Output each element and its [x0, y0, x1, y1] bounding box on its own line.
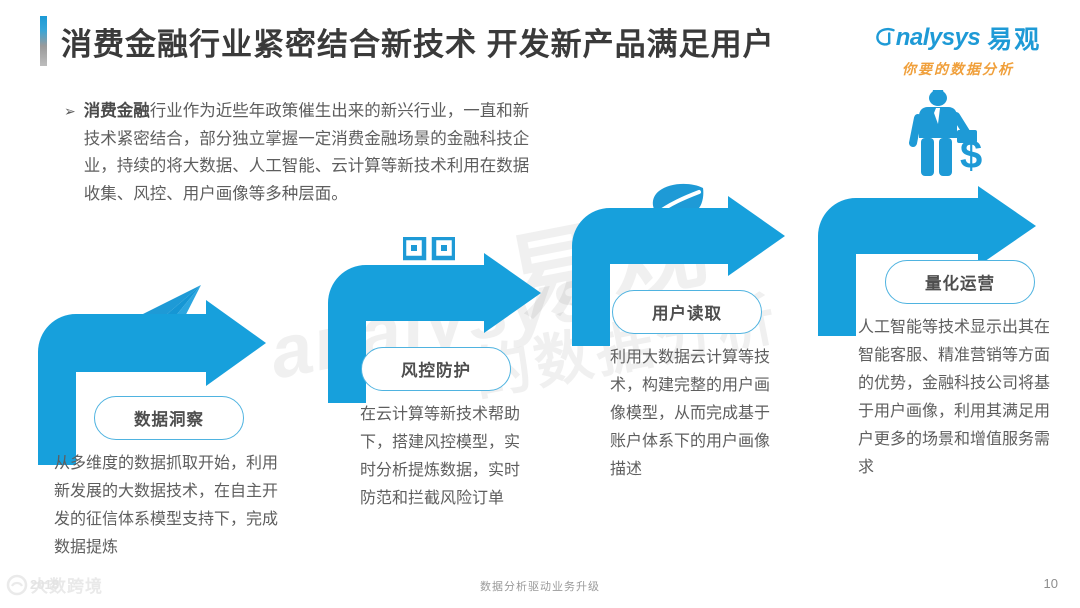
step-label-text-3: 用户读取 — [652, 300, 722, 324]
footer-page-number: 10 — [1044, 576, 1058, 591]
step-label-3[interactable]: 用户读取 — [612, 290, 762, 334]
step-label-2[interactable]: 风控防护 — [361, 347, 511, 391]
logo-wordmark: nalysys — [875, 24, 981, 52]
bullet-arrow-icon: ➢ — [64, 98, 76, 208]
step-description-4: 人工智能等技术显示出其在智能客服、精准营销等方面的优势，金融科技公司将基于用户画… — [858, 314, 1053, 482]
intro-paragraph: ➢ 消费金融行业作为近些年政策催生出来的新兴行业，一直和新技术紧密结合，部分独立… — [64, 98, 534, 208]
footer-corner-watermark: 大数跨境 2018 — [6, 572, 103, 597]
svg-text:$: $ — [960, 133, 982, 177]
step-description-1: 从多维度的数据抓取开始，利用新发展的大数据技术，在自主开发的征信体系模型支持下，… — [54, 450, 286, 562]
logo-wordmark-text: nalysys — [896, 24, 981, 51]
footer-center-text: 数据分析驱动业务升级 — [0, 578, 1080, 594]
intro-text: 消费金融行业作为近些年政策催生出来的新兴行业，一直和新技术紧密结合，部分独立掌握… — [84, 98, 534, 208]
page-title: 消费金融行业紧密结合新技术 开发新产品满足用户 — [40, 16, 775, 66]
step-label-4[interactable]: 量化运营 — [885, 260, 1035, 304]
logo-tagline: 你要的数据分析 — [858, 59, 1058, 79]
step-arrow-1 — [38, 300, 268, 465]
logo-chinese: 易观 — [987, 20, 1041, 56]
businessman-dollar-icon: $ — [904, 88, 982, 185]
logo-swirl-icon — [875, 27, 896, 48]
title-text: 消费金融行业紧密结合新技术 开发新产品满足用户 — [61, 19, 775, 64]
step-label-1[interactable]: 数据洞察 — [94, 396, 244, 440]
intro-body: 行业作为近些年政策催生出来的新兴行业，一直和新技术紧密结合，部分独立掌握一定消费… — [84, 102, 530, 203]
step-description-2: 在云计算等新技术帮助下，搭建风控模型，实时分析提炼数据，实时防范和拦截风险订单 — [360, 401, 530, 513]
title-accent-bar — [40, 16, 47, 66]
step-label-text-4: 量化运营 — [925, 270, 995, 294]
watermark-logo-icon — [6, 574, 28, 596]
intro-lead: 消费金融 — [84, 102, 150, 120]
step-label-text-1: 数据洞察 — [134, 406, 204, 430]
step-description-3: 利用大数据云计算等技术，构建完整的用户画像模型，从而完成基于账户体系下的用户画像… — [610, 344, 780, 484]
watermark-corner-year: 2018 — [30, 577, 59, 592]
brand-logo: nalysys 易观 你要的数据分析 — [858, 20, 1058, 79]
slide-canvas: analysys 易观 的数据分析 消费金融行业紧密结合新技术 开发新产品满足用… — [0, 0, 1080, 608]
step-label-text-2: 风控防护 — [401, 357, 471, 381]
